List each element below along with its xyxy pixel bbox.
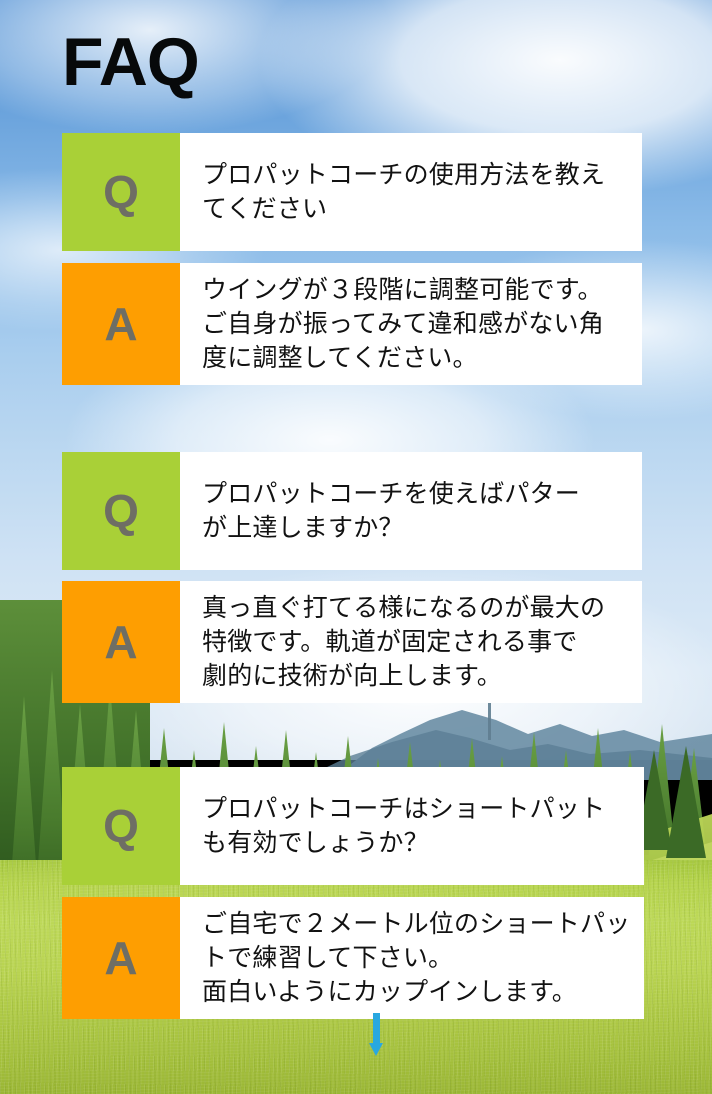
faq-page: FAQ Q プロパットコーチの使用方法を教え てください A ウイングが３段階に… xyxy=(0,0,712,1094)
answer-text-2: 真っ直ぐ打てる様になるのが最大の 特徴です。軌道が固定される事で 劇的に技術が向… xyxy=(180,581,642,703)
arrow-shaft xyxy=(373,1013,380,1045)
answer-text-1: ウイングが３段階に調整可能です。 ご自身が振ってみて違和感がない角 度に調整して… xyxy=(180,263,642,385)
question-text-2: プロパットコーチを使えばパター が上達しますか？ xyxy=(180,452,642,570)
answer-badge-2: A xyxy=(62,581,180,703)
faq-answer-row-1[interactable]: A ウイングが３段階に調整可能です。 ご自身が振ってみて違和感がない角 度に調整… xyxy=(62,263,642,385)
answer-badge-1: A xyxy=(62,263,180,385)
faq-answer-row-3[interactable]: A ご自宅で２メートル位のショートパッ トで練習して下さい。 面白いようにカップ… xyxy=(62,897,644,1019)
question-text-1: プロパットコーチの使用方法を教え てください xyxy=(180,133,642,251)
question-badge-3: Q xyxy=(62,767,180,885)
question-text-3: プロパットコーチはショートパット も有効でしょうか？ xyxy=(180,767,644,885)
answer-text-3: ご自宅で２メートル位のショートパッ トで練習して下さい。 面白いようにカップイン… xyxy=(180,897,644,1019)
faq-question-row-3[interactable]: Q プロパットコーチはショートパット も有効でしょうか？ xyxy=(62,767,644,885)
question-badge-2: Q xyxy=(62,452,180,570)
question-badge-1: Q xyxy=(62,133,180,251)
faq-question-row-2[interactable]: Q プロパットコーチを使えばパター が上達しますか？ xyxy=(62,452,642,570)
page-title: FAQ xyxy=(62,28,199,96)
faq-answer-row-2[interactable]: A 真っ直ぐ打てる様になるのが最大の 特徴です。軌道が固定される事で 劇的に技術… xyxy=(62,581,642,703)
faq-question-row-1[interactable]: Q プロパットコーチの使用方法を教え てください xyxy=(62,133,642,251)
arrow-head xyxy=(369,1043,383,1056)
arrow-down-icon[interactable] xyxy=(369,1013,383,1059)
answer-badge-3: A xyxy=(62,897,180,1019)
